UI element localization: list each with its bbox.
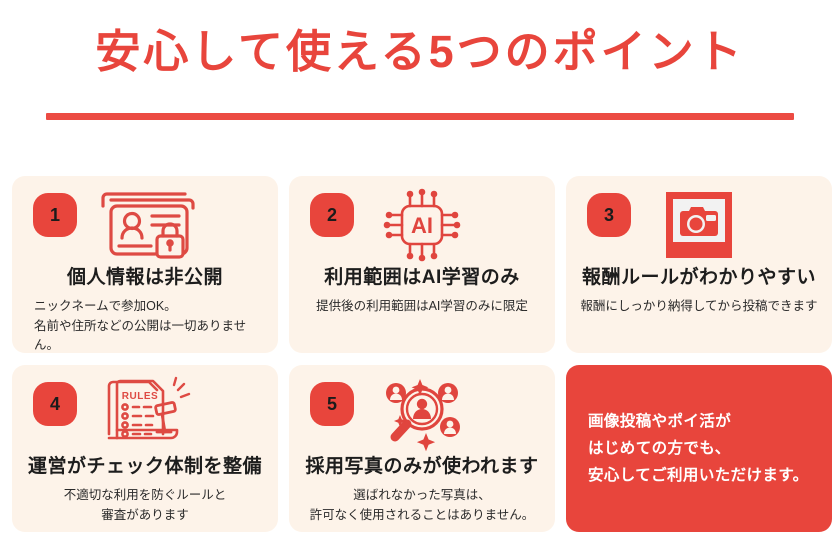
summary-text: 画像投稿やポイ活が はじめての方でも、 安心してご利用いただけます。 — [566, 408, 809, 489]
point-desc-5-line-2: 許可なく使用されることはありません。 — [299, 506, 545, 526]
point-badge-5: 5 — [310, 382, 354, 426]
point-card-2: 2 AI — [289, 176, 555, 353]
point-badge-3: 3 — [587, 193, 631, 237]
point-desc-4: 不適切な利用を防ぐルールと 審査があります — [22, 486, 268, 526]
point-desc-5-line-1: 選ばれなかった写真は、 — [299, 486, 545, 506]
point-text-4: 運営がチェック体制を整備 不適切な利用を防ぐルールと 審査があります — [12, 455, 278, 525]
points-grid: 1 個人情報は非公開 ニックネームで参加OK。 — [12, 176, 832, 532]
point-desc-2-line-1: 提供後の利用範囲はAI学習のみに限定 — [299, 297, 545, 317]
infographic-page: 安心して使える5つのポイント 1 — [0, 0, 840, 549]
point-title-5: 採用写真のみが使われます — [299, 455, 545, 479]
summary-line-3: 安心してご利用いただけます。 — [588, 462, 809, 489]
point-desc-1-line-1: ニックネームで参加OK。 — [34, 297, 268, 317]
header: 安心して使える5つのポイント — [0, 26, 840, 78]
page-title: 安心して使える5つのポイント — [0, 26, 840, 78]
point-card-5: 5 — [289, 365, 555, 532]
point-text-1: 個人情報は非公開 ニックネームで参加OK。 名前や住所などの公開は一切ありません… — [12, 266, 278, 353]
point-desc-4-line-1: 不適切な利用を防ぐルールと — [22, 486, 268, 506]
point-title-2: 利用範囲はAI学習のみ — [299, 266, 545, 290]
svg-text:AI: AI — [411, 213, 433, 238]
point-desc-3: 報酬にしっかり納得してから投稿できます — [576, 297, 822, 317]
summary-line-1: 画像投稿やポイ活が — [588, 408, 809, 435]
point-desc-1: ニックネームで参加OK。 名前や住所などの公開は一切ありません。 — [22, 297, 268, 353]
point-card-4: 4 RULES — [12, 365, 278, 532]
point-title-4: 運営がチェック体制を整備 — [22, 455, 268, 479]
point-desc-1-line-2: 名前や住所などの公開は一切ありません。 — [34, 317, 268, 354]
point-text-2: 利用範囲はAI学習のみ 提供後の利用範囲はAI学習のみに限定 — [289, 266, 555, 317]
svg-text:RULES: RULES — [122, 391, 158, 402]
summary-accent-card: 画像投稿やポイ活が はじめての方でも、 安心してご利用いただけます。 — [566, 365, 832, 532]
point-title-3: 報酬ルールがわかりやすい — [576, 266, 822, 290]
point-card-1: 1 個人情報は非公開 ニックネームで参加OK。 — [12, 176, 278, 353]
point-title-1: 個人情報は非公開 — [22, 266, 268, 290]
point-badge-1: 1 — [33, 193, 77, 237]
point-desc-3-line-1: 報酬にしっかり納得してから投稿できます — [576, 297, 822, 317]
point-badge-4: 4 — [33, 382, 77, 426]
point-text-3: 報酬ルールがわかりやすい 報酬にしっかり納得してから投稿できます — [566, 266, 832, 317]
point-card-3: 3 報酬ルールがわかりやすい 報酬にしっかり納得し — [566, 176, 832, 353]
summary-line-2: はじめての方でも、 — [588, 435, 809, 462]
point-desc-2: 提供後の利用範囲はAI学習のみに限定 — [299, 297, 545, 317]
point-desc-4-line-2: 審査があります — [22, 506, 268, 526]
point-desc-5: 選ばれなかった写真は、 許可なく使用されることはありません。 — [299, 486, 545, 526]
point-badge-2: 2 — [310, 193, 354, 237]
title-underline — [46, 113, 794, 120]
point-text-5: 採用写真のみが使われます 選ばれなかった写真は、 許可なく使用されることはありま… — [289, 455, 555, 525]
